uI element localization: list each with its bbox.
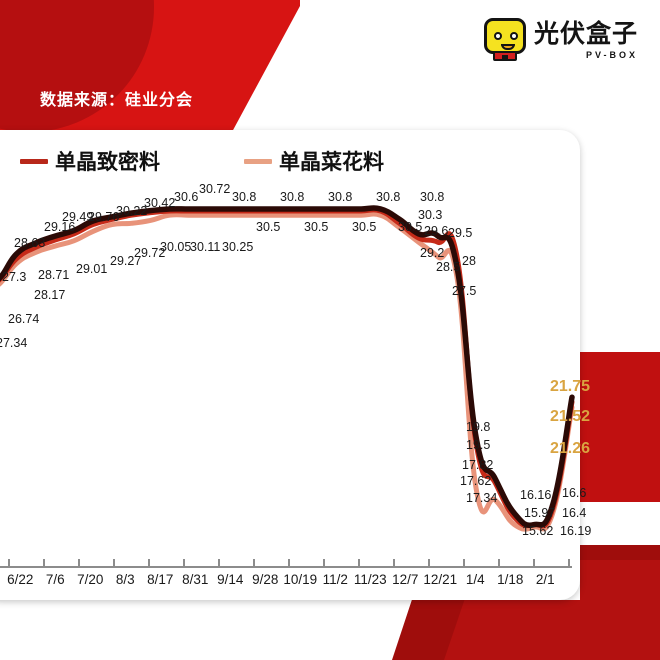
label-17-34: 17.34 (466, 491, 497, 505)
label-30-8-c: 30.8 (328, 190, 352, 204)
x-axis-label: 12/21 (423, 572, 457, 587)
label-21-52: 21.52 (550, 408, 590, 426)
legend-label-flower: 单晶菜花料 (279, 146, 384, 176)
label-28-17: 28.17 (34, 288, 65, 302)
robot-eye-right-icon (510, 32, 518, 40)
x-axis-label: 8/3 (116, 572, 135, 587)
label-30-3: 30.3 (418, 208, 442, 222)
label-27-5: 27.5 (452, 284, 476, 298)
label-30-8-b: 30.8 (280, 190, 304, 204)
brand-wordmark: 光伏盒子 PV-BOX (534, 21, 638, 60)
label-19-5: 19.5 (466, 438, 490, 452)
label-27-34: 27.34 (0, 336, 27, 350)
label-16-19: 16.19 (560, 524, 591, 538)
x-axis-label: 1/4 (466, 572, 485, 587)
label-15-62: 15.62 (522, 524, 553, 538)
data-source-note: 数据来源：硅业分会 (40, 86, 193, 110)
label-28-5: 28.5 (436, 260, 460, 274)
label-27-3: 27.3 (2, 270, 26, 284)
label-30-5-c: 30.5 (352, 220, 376, 234)
label-29-5: 29.5 (448, 226, 472, 240)
x-axis-label: 12/7 (392, 572, 418, 587)
legend-item-dense[interactable]: 单晶致密料 (20, 146, 160, 176)
x-axis-tick (428, 559, 430, 567)
label-21-75: 21.75 (550, 378, 590, 396)
x-axis-label: 2/1 (536, 572, 555, 587)
label-30-25: 30.25 (222, 240, 253, 254)
label-30-72: 30.72 (199, 182, 230, 196)
x-axis-tick (533, 559, 535, 567)
x-axis-label: 7/6 (46, 572, 65, 587)
x-axis-tick (148, 559, 150, 567)
x-axis-label: 8/31 (182, 572, 208, 587)
label-29-6: 29.6 (424, 224, 448, 238)
label-28-71: 28.71 (38, 268, 69, 282)
x-axis-label: 1/18 (497, 572, 523, 587)
label-17-82: 17.82 (462, 458, 493, 472)
brand-logo: 光伏盒子 PV-BOX (484, 18, 638, 62)
x-axis-tick (253, 559, 255, 567)
x-axis-tick (288, 559, 290, 567)
brand-name-cn: 光伏盒子 (534, 21, 638, 46)
x-axis-label: 11/23 (354, 572, 387, 587)
x-axis-label: 8/17 (147, 572, 173, 587)
x-axis-tick (43, 559, 45, 567)
brand-name-en: PV-BOX (586, 50, 638, 60)
x-axis-tick (218, 559, 220, 567)
robot-leg-left-icon (505, 55, 508, 60)
legend-swatch-flower (244, 159, 272, 164)
x-axis-tick (323, 559, 325, 567)
x-axis-tick (393, 559, 395, 567)
x-axis-label: 6/22 (7, 572, 33, 587)
label-15-97: 15.97 (524, 506, 555, 520)
label-16-16: 16.16 (520, 488, 551, 502)
label-30-8-e: 30.8 (420, 190, 444, 204)
robot-body-icon (493, 51, 517, 61)
x-axis-tick (78, 559, 80, 567)
x-axis-tick (568, 559, 570, 567)
chart-x-axis: 6/227/67/208/38/178/319/149/2810/1911/21… (0, 556, 580, 600)
label-28-63: 28.63 (14, 236, 45, 250)
x-axis-label: 9/28 (252, 572, 278, 587)
label-28: 28 (462, 254, 476, 268)
robot-head-icon (484, 18, 526, 54)
x-axis-tick (8, 559, 10, 567)
label-30-5-b: 30.5 (304, 220, 328, 234)
robot-eye-left-icon (494, 32, 502, 40)
robot-box-icon (484, 18, 526, 62)
x-axis-label: 7/20 (77, 572, 103, 587)
x-axis-label: 10/19 (283, 572, 317, 587)
label-21-26: 21.26 (550, 440, 590, 458)
label-30-5-d: 30.5 (398, 220, 422, 234)
label-30-8-d: 30.8 (376, 190, 400, 204)
label-29-76: 29.76 (88, 210, 119, 224)
label-16-4: 16.4 (562, 506, 586, 520)
label-30-22: 30.22 (116, 204, 147, 218)
label-19-8: 19.8 (466, 420, 490, 434)
label-30-11: 30.11 (190, 240, 220, 254)
x-axis-label: 9/14 (217, 572, 243, 587)
chart-legend: 单晶致密料 单晶菜花料 (20, 146, 384, 176)
x-axis-tick (498, 559, 500, 567)
label-30-5-a: 30.5 (256, 220, 280, 234)
x-axis-label: 11/2 (323, 572, 348, 587)
label-29-01: 29.01 (76, 262, 107, 276)
label-30-6: 30.6 (174, 190, 198, 204)
label-17-62: 17.62 (460, 474, 491, 488)
label-30-42: 30.42 (144, 196, 175, 210)
x-axis-tick (183, 559, 185, 567)
x-axis-tick (463, 559, 465, 567)
x-axis-tick (113, 559, 115, 567)
label-29-2: 29.2 (420, 246, 444, 260)
label-30-8-a: 30.8 (232, 190, 256, 204)
x-axis-tick (358, 559, 360, 567)
label-16-6: 16.6 (562, 486, 586, 500)
legend-label-dense: 单晶致密料 (55, 146, 160, 176)
label-30-05: 30.05 (160, 240, 191, 254)
robot-mouth-icon (501, 44, 515, 50)
label-26-74: 26.74 (8, 312, 39, 326)
x-axis-line (0, 566, 572, 568)
legend-item-flower[interactable]: 单晶菜花料 (244, 146, 384, 176)
robot-leg-right-icon (502, 55, 505, 60)
legend-swatch-dense (20, 159, 48, 164)
